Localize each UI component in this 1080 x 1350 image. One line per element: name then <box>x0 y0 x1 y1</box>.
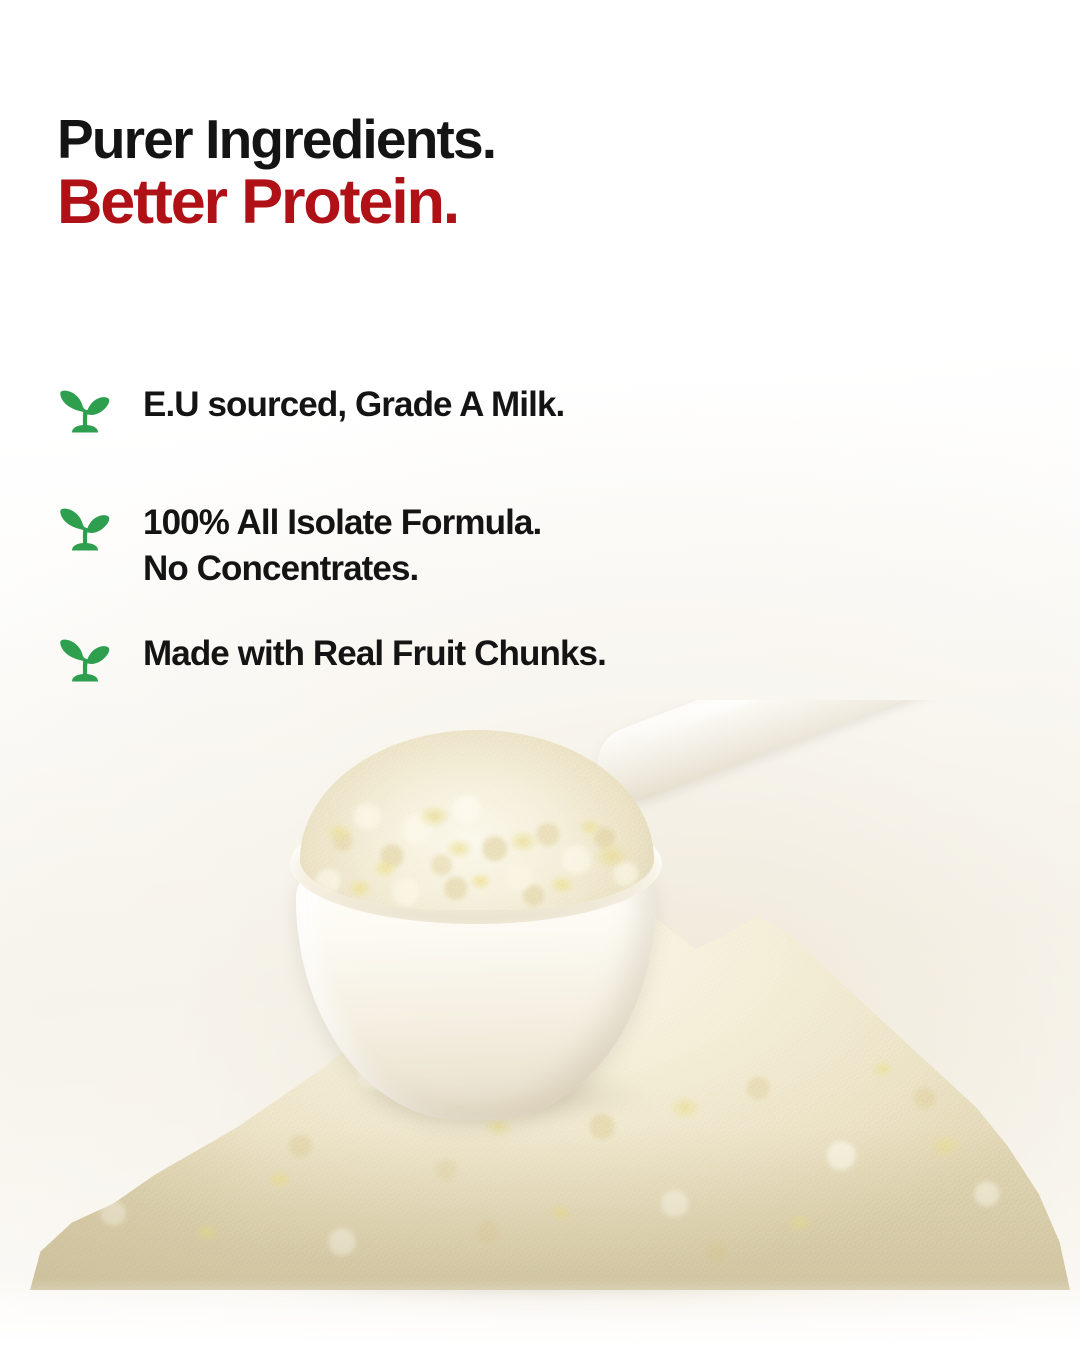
headline-line-accent: Better Protein. <box>57 171 957 234</box>
benefit-item: Made with Real Fruit Chunks. <box>57 629 997 689</box>
benefit-item: E.U sourced, Grade A Milk. <box>57 380 997 440</box>
benefit-item: 100% All Isolate Formula. No Concentrate… <box>57 498 997 591</box>
benefit-label: Made with Real Fruit Chunks. <box>143 629 606 677</box>
benefit-label: E.U sourced, Grade A Milk. <box>143 380 564 428</box>
headline-line-primary: Purer Ingredients. <box>57 112 957 167</box>
sprout-icon <box>57 498 113 558</box>
measuring-scoop <box>0 700 1080 1350</box>
benefit-label: 100% All Isolate Formula. No Concentrate… <box>143 498 541 591</box>
bottom-fade <box>0 1278 1080 1350</box>
sprout-icon <box>57 629 113 689</box>
product-photo <box>0 700 1080 1350</box>
scoop-handle <box>587 700 1080 812</box>
sprout-icon <box>57 380 113 440</box>
headline-block: Purer Ingredients. Better Protein. <box>57 112 957 234</box>
benefits-list: E.U sourced, Grade A Milk. 100% All Isol… <box>57 380 997 689</box>
